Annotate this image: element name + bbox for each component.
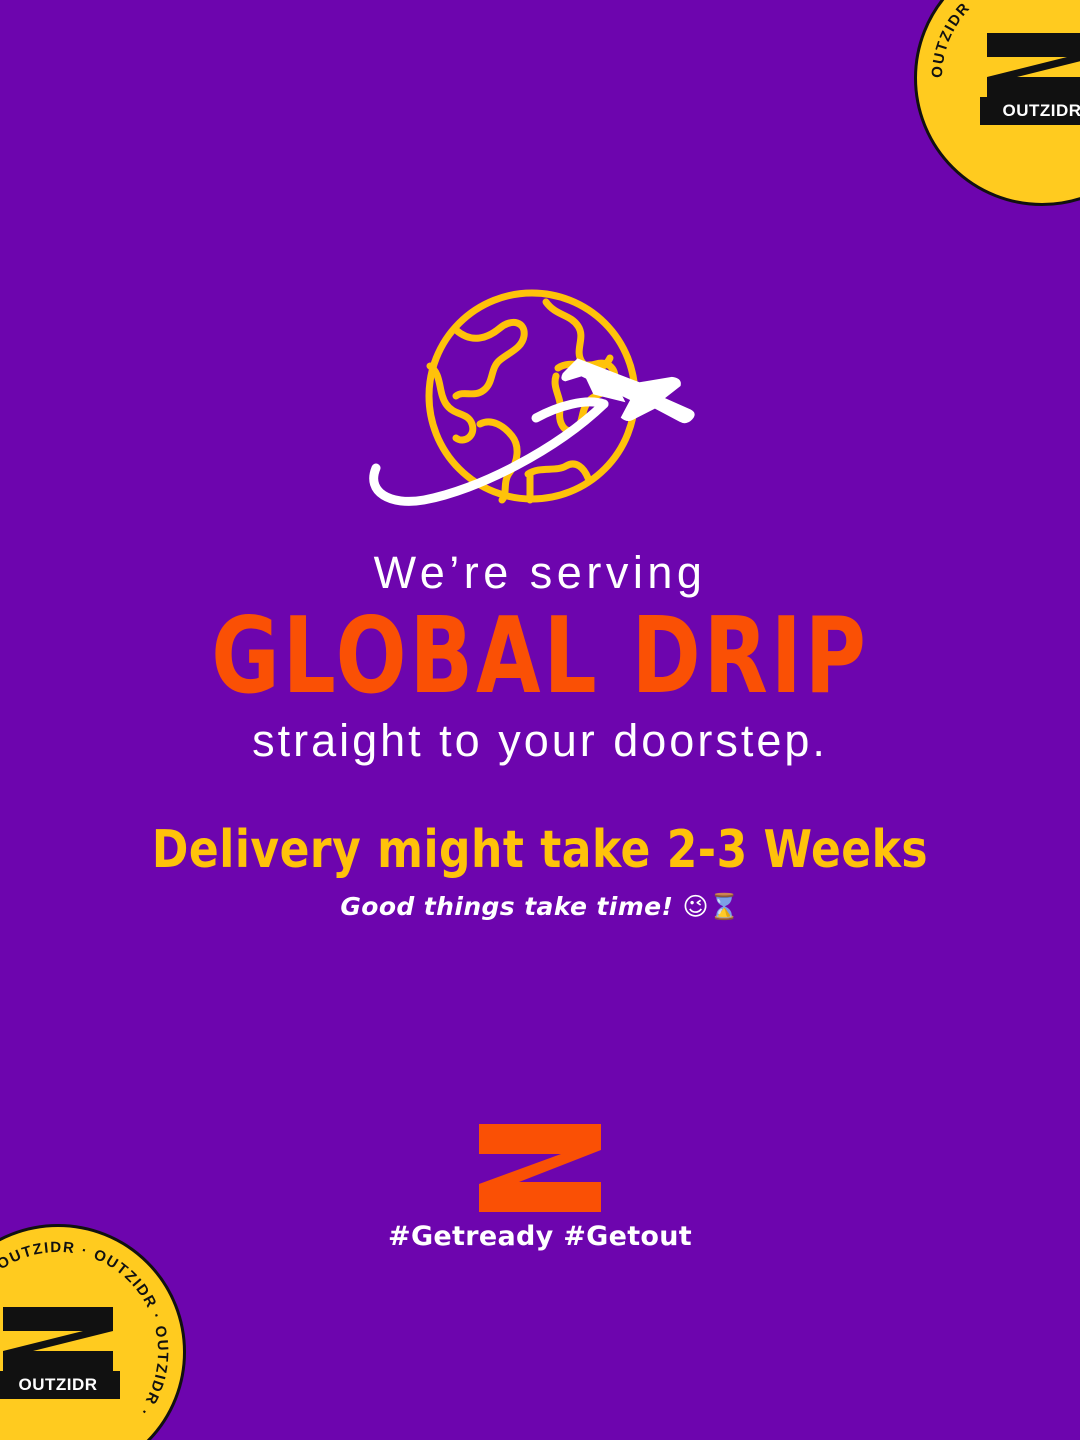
outzidr-z-icon bbox=[983, 31, 1080, 103]
delivery-subtext-label: Good things take time! bbox=[340, 892, 673, 921]
delivery-subtext: Good things take time! 😉⌛ bbox=[0, 892, 1080, 922]
outzidr-sticker-top-right: OUTZIDR · OUTZIDR · OUTZIDR · OUTZIDR · … bbox=[914, 0, 1080, 206]
headline-line-doorstep: straight to your doorstep. bbox=[0, 716, 1080, 766]
headline-block: We’re serving GLOBAL DRIP straight to yo… bbox=[0, 548, 1080, 766]
globe-airplane-icon bbox=[360, 278, 720, 518]
outzidr-wordmark-icon: OUTZIDR bbox=[988, 101, 1080, 120]
badge-word-bottom-left: OUTZIDR bbox=[18, 1375, 97, 1394]
badge-wordmark-bottom-left: OUTZIDR bbox=[0, 1371, 120, 1399]
badge-core-top-right: OUTZIDR bbox=[976, 31, 1080, 125]
headline-line-serving: We’re serving bbox=[0, 548, 1080, 598]
wink-hourglass-emoji: 😉⌛ bbox=[682, 892, 739, 921]
badge-word-top-right: OUTZIDR bbox=[1002, 101, 1080, 120]
delivery-block: Delivery might take 2-3 Weeks Good thing… bbox=[0, 822, 1080, 922]
headline-line-global-drip: GLOBAL DRIP bbox=[16, 604, 1064, 709]
delivery-time-text: Delivery might take 2-3 Weeks bbox=[0, 822, 1080, 879]
outzidr-sticker-bottom-left: OUTZIDR · OUTZIDR · OUTZIDR · OUTZIDR · … bbox=[0, 1224, 186, 1440]
badge-core-bottom-left: OUTZIDR bbox=[0, 1305, 124, 1399]
promo-poster: OUTZIDR · OUTZIDR · OUTZIDR · OUTZIDR · … bbox=[0, 0, 1080, 1440]
outzidr-z-icon bbox=[0, 1305, 117, 1377]
outzidr-wordmark-icon: OUTZIDR bbox=[4, 1375, 112, 1394]
outzidr-z-logo bbox=[479, 1124, 601, 1212]
badge-wordmark-top-right: OUTZIDR bbox=[980, 97, 1080, 125]
